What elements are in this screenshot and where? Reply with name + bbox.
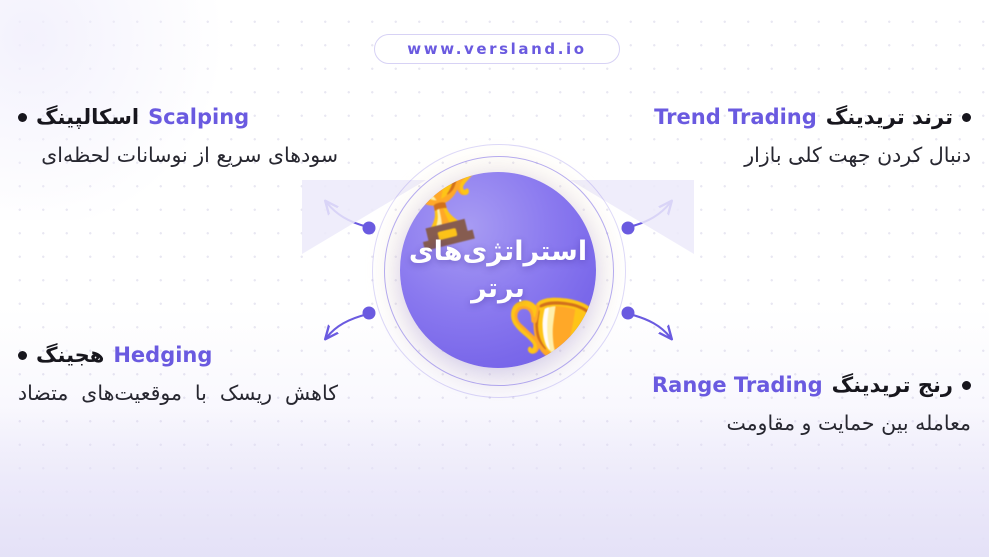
strategy-title-fa: اسکالپینگ: [36, 104, 139, 131]
infographic-canvas: www.versland.io: [0, 0, 989, 557]
bullet-icon: [962, 113, 971, 122]
strategy-title-fa: رنج تریدینگ: [832, 372, 953, 399]
strategy-title-en: Scalping: [148, 104, 249, 131]
strategy-description: معامله بین حمایت و مقاومت: [591, 408, 971, 438]
website-url-text: www.versland.io: [407, 40, 586, 58]
center-disc: 🏆 🏆 استراتژی‌های برتر: [400, 172, 596, 368]
strategy-item-trend-trading[interactable]: ترند تریدینگ Trend Trading دنبال کردن جه…: [591, 104, 971, 171]
strategy-title-en: Hedging: [113, 342, 212, 369]
strategy-description: سودهای سریع از نوسانات لحظه‌ای: [18, 140, 338, 170]
strategy-title-fa: هجینگ: [36, 342, 104, 369]
website-url-badge[interactable]: www.versland.io: [374, 34, 620, 64]
strategy-heading: هجینگ Hedging: [18, 342, 338, 369]
bullet-icon: [962, 381, 971, 390]
connector-arrow-hedging: [327, 307, 376, 338]
bullet-icon: [18, 113, 27, 122]
strategy-title-en: Trend Trading: [654, 104, 817, 131]
bullet-icon: [18, 351, 27, 360]
strategy-description: کاهش ریسک با موقعیت‌های متضاد: [18, 378, 338, 408]
strategy-heading: اسکالپینگ Scalping: [18, 104, 338, 131]
strategy-heading: رنج تریدینگ Range Trading: [591, 372, 971, 399]
strategy-title-en: Range Trading: [652, 372, 823, 399]
strategy-description: دنبال کردن جهت کلی بازار: [591, 140, 971, 170]
strategy-heading: ترند تریدینگ Trend Trading: [591, 104, 971, 131]
center-title: استراتژی‌های برتر: [400, 233, 596, 308]
strategy-item-range-trading[interactable]: رنج تریدینگ Range Trading معامله بین حما…: [591, 372, 971, 439]
connector-arrow-range: [622, 307, 671, 338]
strategy-item-hedging[interactable]: هجینگ Hedging کاهش ریسک با موقعیت‌های مت…: [18, 342, 338, 409]
strategy-item-scalping[interactable]: اسکالپینگ Scalping سودهای سریع از نوسانا…: [18, 104, 338, 171]
strategy-title-fa: ترند تریدینگ: [826, 104, 953, 131]
